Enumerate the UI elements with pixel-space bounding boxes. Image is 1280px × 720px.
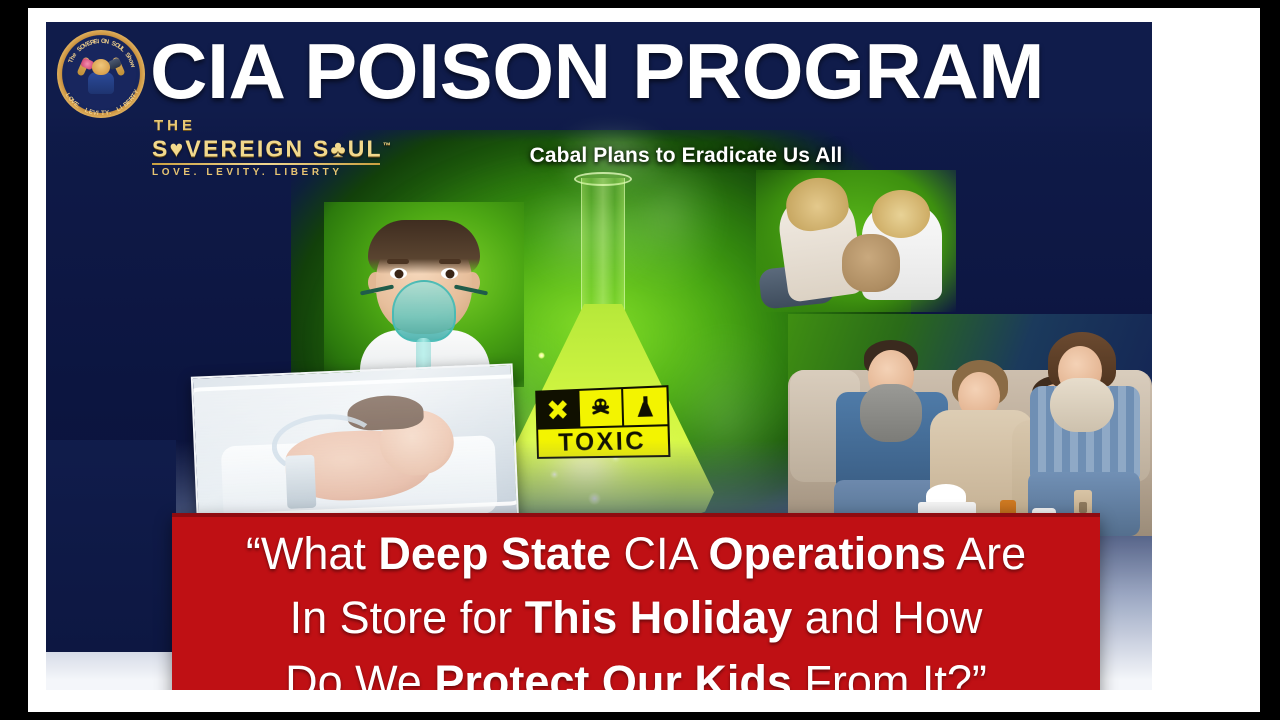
headline-banner: “What Deep State CIA Operations Are In S… [172, 513, 1100, 690]
headline-l3-p1: Do We [285, 656, 434, 690]
headline-l2-p2: and How [792, 592, 982, 643]
headline-l1-p2: CIA [611, 528, 709, 579]
page-title: CIA POISON PROGRAM [150, 28, 1152, 114]
wordmark-rule [152, 163, 380, 165]
headline-l1-bold1: Deep State [378, 528, 611, 579]
photo-sick-family [788, 314, 1152, 536]
headline-line-3: Do We Protect Our Kids From It?” [186, 650, 1086, 690]
flask-hazard-icon [623, 387, 667, 425]
photo-incubator-baby [191, 363, 519, 536]
x-hazard-icon [537, 391, 580, 428]
trademark-symbol: ™ [383, 141, 391, 150]
toxic-pictograms [537, 387, 667, 429]
wordmark-main-text: S♥VEREIGN S♣UL [152, 136, 383, 162]
headline-l3-p2: From It?” [792, 656, 987, 690]
skull-crossbones-icon [579, 389, 624, 426]
headline-l1-p1: “What [246, 528, 379, 579]
headline-l2-p1: In Store for [290, 592, 525, 643]
headline-banner-text: “What Deep State CIA Operations Are In S… [172, 522, 1100, 690]
headline-line-1: “What Deep State CIA Operations Are [186, 522, 1086, 586]
headline-l2-bold1: This Holiday [525, 592, 793, 643]
badge-figure-icon [75, 51, 127, 101]
wordmark-tagline: LOVE. LEVITY. LIBERTY [152, 166, 402, 180]
subtitle: Cabal Plans to Eradicate Us All [426, 144, 946, 168]
bottom-left-navy-block [46, 440, 176, 652]
headline-l1-bold2: Operations [709, 528, 947, 579]
headline-l3-bold-underline: Protect Our Kids [434, 656, 792, 690]
photo-boy-nebulizer [324, 202, 524, 387]
wordmark-the: THE [152, 118, 402, 133]
brand-wordmark[interactable]: THE S♥VEREIGN S♣UL™ LOVE. LEVITY. LIBERT… [152, 118, 402, 180]
wordmark-main: S♥VEREIGN S♣UL™ [152, 133, 402, 162]
poster-canvas: TOXIC [46, 22, 1152, 690]
photo-children-teddy [756, 170, 956, 312]
flask-neck [581, 178, 625, 310]
sovereign-soul-badge-icon[interactable]: The SOVEREIGN SOUL ShowLOVE. LEVITY. LIB… [57, 30, 145, 118]
headline-line-2: In Store for This Holiday and How [186, 586, 1086, 650]
glow-particle-icon [538, 352, 545, 359]
thumbnail-frame: TOXIC [0, 0, 1280, 720]
headline-l1-p3: Are [946, 528, 1026, 579]
